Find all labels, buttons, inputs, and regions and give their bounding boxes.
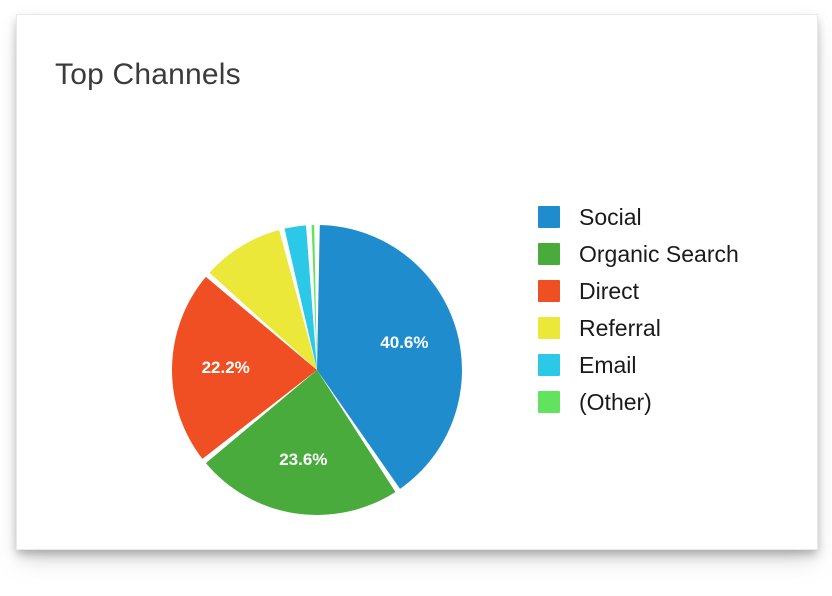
legend-item-label: Direct xyxy=(579,278,639,304)
legend-item-label: (Other) xyxy=(579,389,652,415)
pie-chart-svg: 40.6%23.6%22.2% xyxy=(157,213,477,533)
legend-swatch-icon xyxy=(538,206,560,228)
pie-slice-label: 23.6% xyxy=(279,450,327,469)
pie-slice-label: 22.2% xyxy=(202,358,250,377)
legend-item[interactable]: Referral xyxy=(538,309,808,346)
chart-legend: SocialOrganic SearchDirectReferralEmail(… xyxy=(538,198,808,420)
screenshot-root: Top Channels 40.6%23.6%22.2% SocialOrgan… xyxy=(0,0,832,596)
legend-item[interactable]: Direct xyxy=(538,272,808,309)
top-channels-card: Top Channels 40.6%23.6%22.2% SocialOrgan… xyxy=(16,14,818,550)
legend-item[interactable]: Organic Search xyxy=(538,235,808,272)
legend-swatch-icon xyxy=(538,243,560,265)
pie-chart: 40.6%23.6%22.2% xyxy=(157,213,477,533)
legend-swatch-icon xyxy=(538,391,560,413)
legend-item-label: Social xyxy=(579,204,642,230)
legend-item[interactable]: (Other) xyxy=(538,383,808,420)
legend-item-label: Email xyxy=(579,352,637,378)
legend-item-label: Referral xyxy=(579,315,661,341)
legend-item-label: Organic Search xyxy=(579,241,739,267)
legend-swatch-icon xyxy=(538,354,560,376)
pie-slice-label: 40.6% xyxy=(380,333,428,352)
legend-item[interactable]: Email xyxy=(538,346,808,383)
legend-swatch-icon xyxy=(538,317,560,339)
legend-swatch-icon xyxy=(538,280,560,302)
page-title: Top Channels xyxy=(55,57,241,93)
legend-item[interactable]: Social xyxy=(538,198,808,235)
